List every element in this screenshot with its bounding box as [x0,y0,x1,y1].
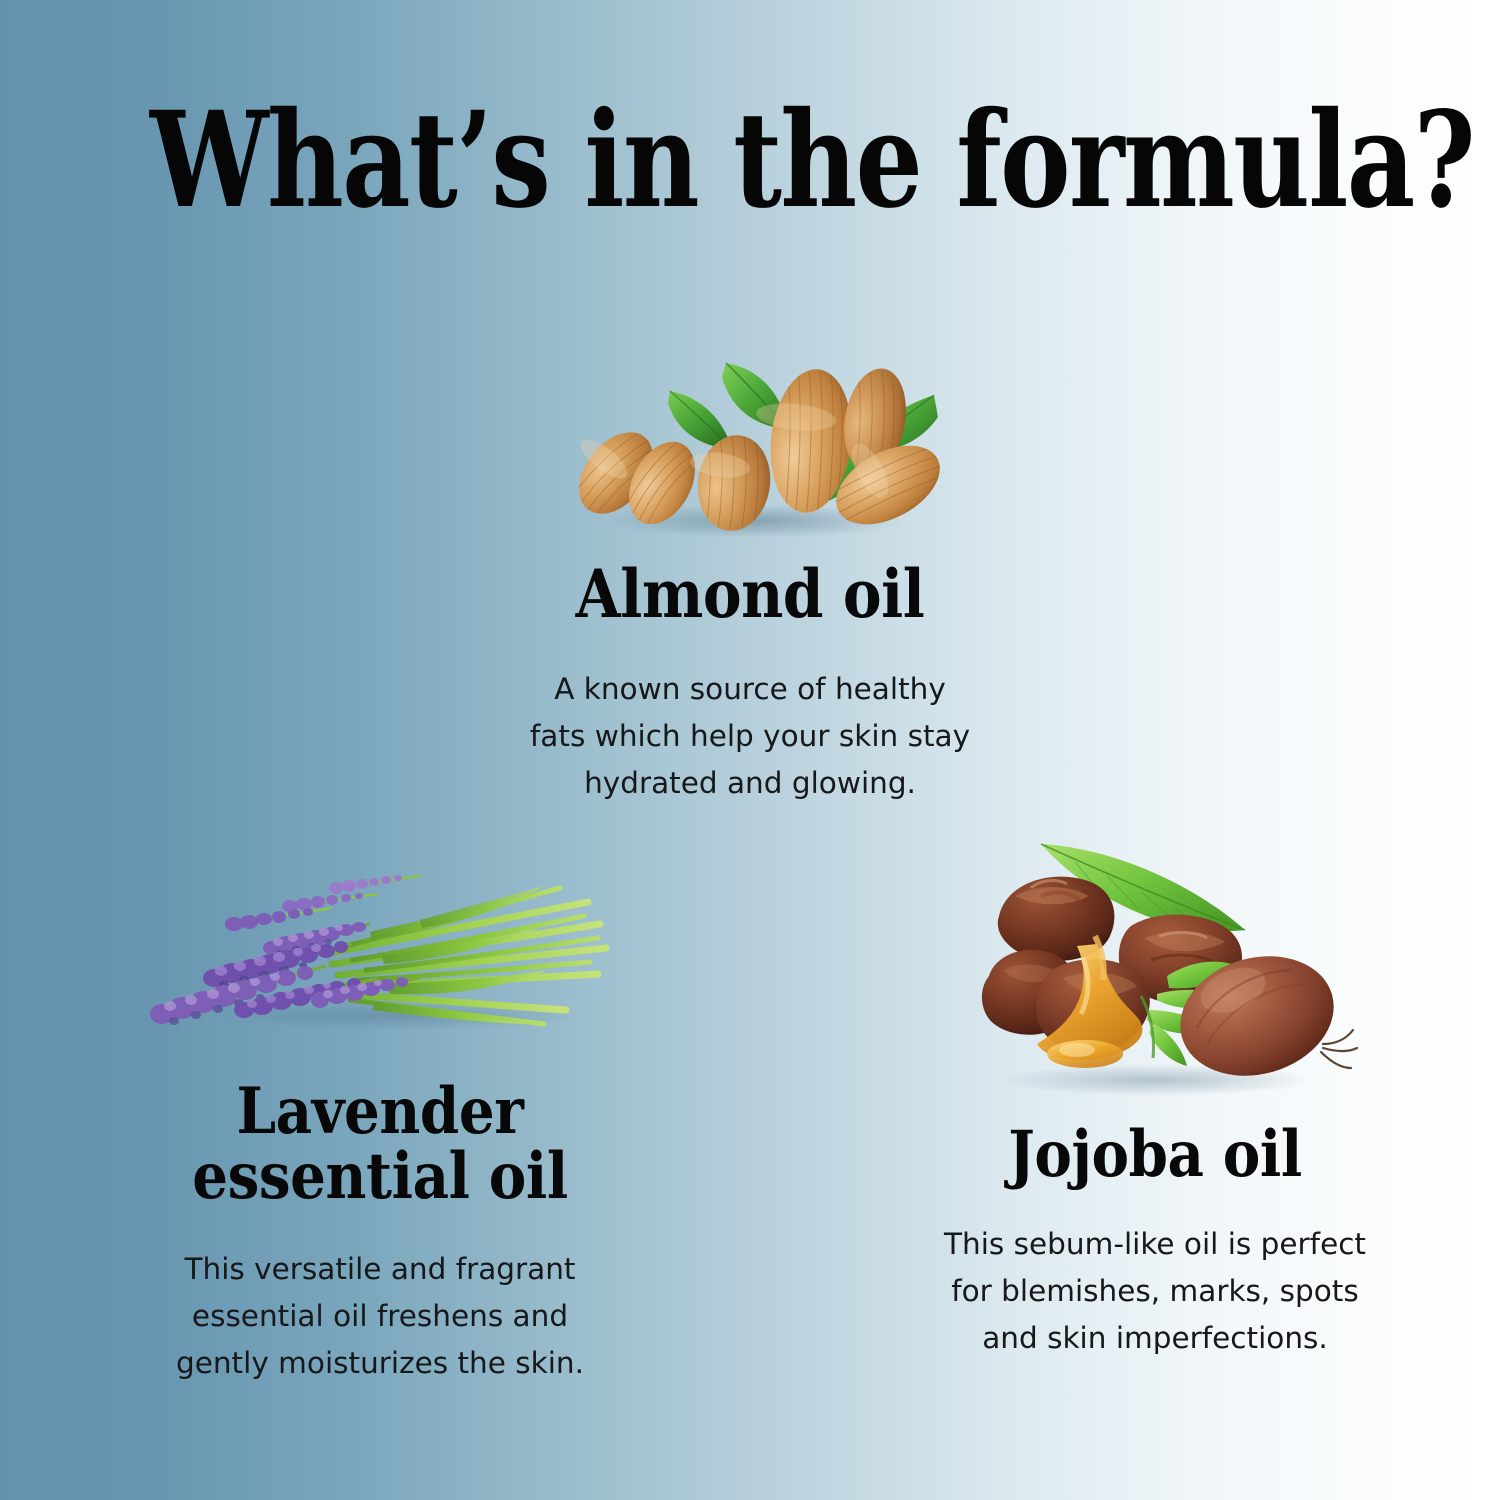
ingredient-title-line: Jojoba oil [913,1122,1397,1187]
description-line: for blemishes, marks, spots [880,1268,1430,1315]
ingredient-title-almond: Almond oil [468,561,1031,628]
jojoba-seeds-with-oil-photo [945,818,1365,1108]
description-line: gently moisturizes the skin. [70,1340,690,1387]
ingredient-description-jojoba: This sebum-like oil is perfect for blemi… [880,1221,1430,1362]
description-line: This versatile and fragrant [70,1246,690,1293]
description-line: A known source of healthy [430,666,1070,713]
description-line: and skin imperfections. [880,1315,1430,1362]
ingredient-title-line: Lavender [107,1079,653,1144]
description-line: fats which help your skin stay [430,713,1070,760]
almonds-with-leaves-photo [530,325,970,555]
ingredient-title-line: Almond oil [468,561,1031,628]
ingredient-title-lavender: Lavender essential oil [107,1079,653,1210]
ingredient-card-jojoba: Jojoba oil This sebum-like oil is perfec… [880,818,1430,1362]
description-line: hydrated and glowing. [430,760,1070,807]
ingredient-title-jojoba: Jojoba oil [913,1122,1397,1187]
ingredient-description-almond: A known source of healthy fats which hel… [430,666,1070,807]
ingredient-card-almond: Almond oil A known source of healthy fat… [430,325,1070,807]
description-line: This sebum-like oil is perfect [880,1221,1430,1268]
lavender-bunch-photo [120,828,640,1053]
ingredient-card-lavender: Lavender essential oil This versatile an… [70,828,690,1387]
ingredient-title-line: essential oil [107,1144,653,1209]
page-title: What’s in the formula? [150,95,1350,227]
ingredient-description-lavender: This versatile and fragrant essential oi… [70,1246,690,1387]
ingredients-infographic: What’s in the formula? [0,0,1500,1500]
description-line: essential oil freshens and [70,1293,690,1340]
